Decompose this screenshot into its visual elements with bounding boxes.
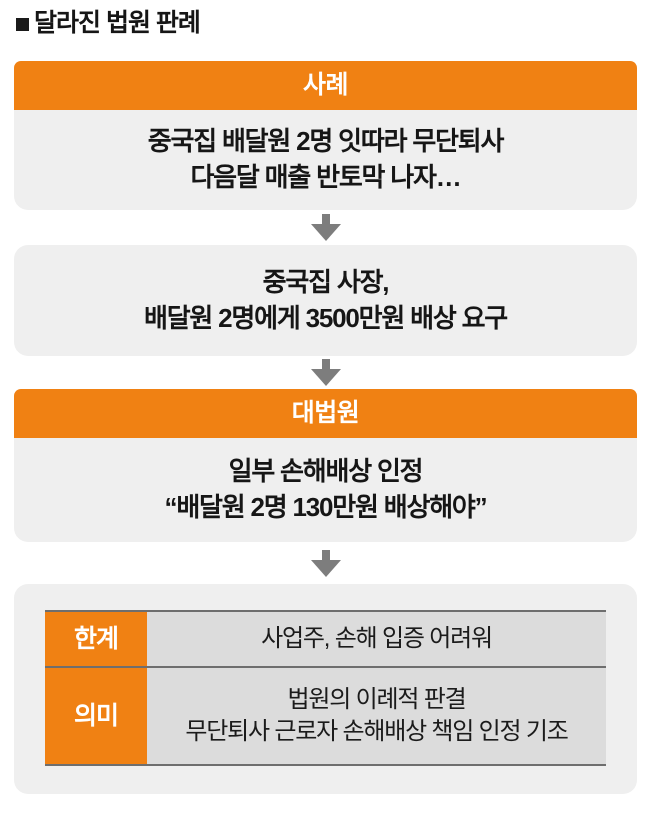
summary-row-meaning-line-1: 법원의 이례적 판결 [288,684,466,716]
section-header-case: 사례 [14,61,637,110]
square-bullet-icon [16,18,29,31]
panel-case-line-1: 중국집 배달원 2명 잇따라 무단퇴사 [148,124,503,160]
arrow-down-icon [311,550,341,577]
panel-demand-line-2: 배달원 2명에게 3500만원 배상 요구 [144,301,507,337]
arrow-head [311,369,341,386]
page-title-text: 달라진 법원 판례 [34,11,200,36]
panel-court-line-1: 일부 손해배상 인정 [229,454,423,490]
arrow-head [311,224,341,241]
arrow-down-icon [311,214,341,241]
panel-demand: 중국집 사장, 배달원 2명에게 3500만원 배상 요구 [14,245,637,356]
panel-court-line-2: “배달원 2명 130만원 배상해야” [165,490,487,526]
summary-table: 한계 사업주, 손해 입증 어려워 의미 법원의 이례적 판결 무단퇴사 근로자… [45,610,606,766]
section-header-supreme-court: 대법원 [14,389,637,438]
infographic-root: 달라진 법원 판례 사례 중국집 배달원 2명 잇따라 무단퇴사 다음달 매출 … [0,0,658,826]
summary-row-meaning-label: 의미 [45,668,147,764]
summary-row-limit-body: 사업주, 손해 입증 어려워 [147,612,606,666]
arrow-down-icon [311,359,341,386]
summary-row-limit-label-text: 한계 [74,627,118,652]
summary-row-limit: 한계 사업주, 손해 입증 어려워 [45,612,606,668]
summary-row-meaning-label-text: 의미 [74,704,118,729]
connector-2 [14,356,637,389]
page-title: 달라진 법원 판례 [16,11,200,36]
section-header-case-label: 사례 [303,73,348,98]
summary-row-meaning-line-2: 무단퇴사 근로자 손해배상 책임 인정 기조 [185,716,567,748]
connector-1 [14,210,637,245]
section-header-supreme-court-label: 대법원 [292,401,360,426]
panel-supreme-court: 일부 손해배상 인정 “배달원 2명 130만원 배상해야” [14,438,637,542]
arrow-head [311,560,341,577]
panel-case-line-2: 다음달 매출 반토막 나자… [190,160,460,196]
summary-row-limit-line-1: 사업주, 손해 입증 어려워 [261,623,492,655]
summary-row-limit-label: 한계 [45,612,147,666]
panel-demand-line-1: 중국집 사장, [263,265,389,301]
connector-3 [14,542,637,584]
panel-summary: 한계 사업주, 손해 입증 어려워 의미 법원의 이례적 판결 무단퇴사 근로자… [14,584,637,794]
panel-case: 중국집 배달원 2명 잇따라 무단퇴사 다음달 매출 반토막 나자… [14,110,637,210]
summary-row-meaning: 의미 법원의 이례적 판결 무단퇴사 근로자 손해배상 책임 인정 기조 [45,668,606,764]
summary-row-meaning-body: 법원의 이례적 판결 무단퇴사 근로자 손해배상 책임 인정 기조 [147,668,606,764]
flow-column: 사례 중국집 배달원 2명 잇따라 무단퇴사 다음달 매출 반토막 나자… 중국… [14,61,637,794]
